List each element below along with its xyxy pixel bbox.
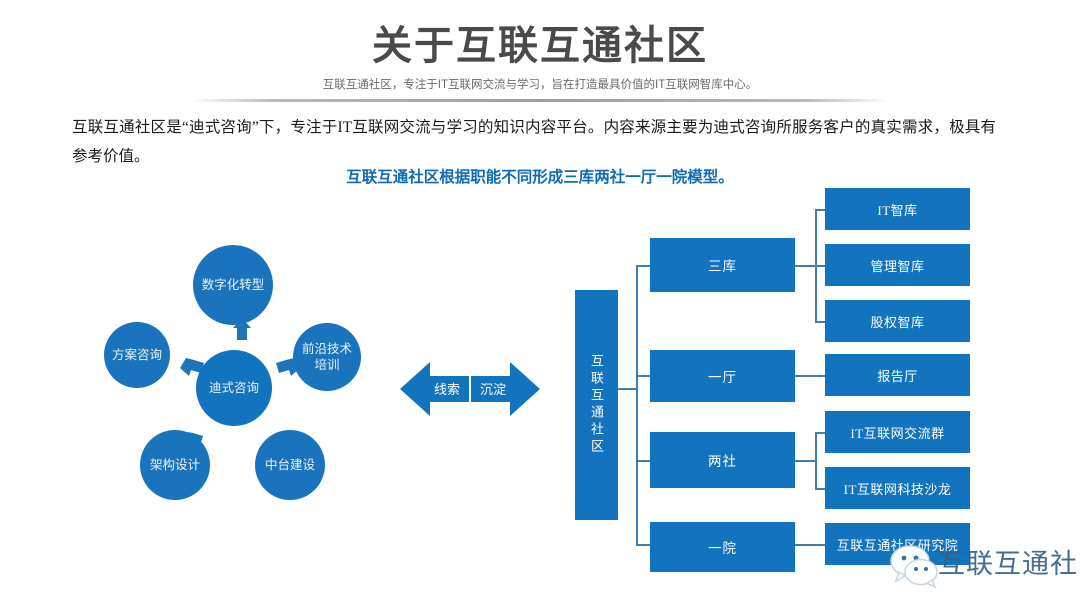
tree-connector [795,544,827,546]
radial-node-label: 中台建设 [261,457,319,473]
tree-branch-liangshe[interactable]: 两社 [650,432,795,488]
bridge-label-right: 沉淀 [480,379,506,398]
tree-root-node[interactable]: 互联互通社区 [575,290,618,520]
tree-leaf-it-think-tank[interactable]: IT智库 [825,188,970,230]
radial-node-digital-transformation[interactable]: 数字化转型 [193,245,273,325]
tree-connector [618,388,636,390]
tree-branch-yiting[interactable]: 一厅 [650,350,795,402]
radial-node-midplatform[interactable]: 中台建设 [255,430,325,500]
tree-connector [815,433,817,489]
radial-node-label: 方案咨询 [108,347,166,363]
tree-leaf-it-chat-group[interactable]: IT互联网交流群 [825,411,970,453]
tree-leaf-management-think-tank[interactable]: 管理智库 [825,244,970,286]
tree-branch-sanku[interactable]: 三库 [650,238,795,292]
tree-connector [795,265,815,267]
page-subtitle: 互联互通社区，专注于IT互联网交流与学习，旨在打造最具价值的IT互联网智库中心。 [0,76,1080,92]
wechat-icon [888,544,940,590]
radial-center-label: 迪式咨询 [205,380,263,396]
tree-connector [795,375,827,377]
header-divider [190,99,890,102]
radial-node-solution-consulting[interactable]: 方案咨询 [104,322,170,388]
page-title: 关于互联互通社区 [0,22,1080,70]
radial-node-label: 数字化转型 [198,277,269,293]
bridge-label-left: 线索 [434,379,460,398]
radial-node-architecture-design[interactable]: 架构设计 [140,430,210,500]
slide-canvas: 关于互联互通社区 互联互通社区，专注于IT互联网交流与学习，旨在打造最具价值的I… [0,0,1080,608]
bidirectional-arrow: 线索 沉淀 [400,358,540,420]
tree-connector [636,266,638,546]
radial-node-label: 架构设计 [146,457,204,473]
tree-leaf-it-tech-salon[interactable]: IT互联网科技沙龙 [825,467,970,509]
tree-branch-yiyuan[interactable]: 一院 [650,522,795,572]
double-arrow-icon [400,358,540,420]
watermark-text: 互联互通社区 [938,542,1080,581]
radial-diagram: 数字化转型 前沿技术培训 中台建设 架构设计 方案咨询 迪式咨询 [90,230,390,520]
watermark: 互联互通社区 [888,536,1080,588]
radial-center-node[interactable]: 迪式咨询 [196,350,272,426]
radial-node-label: 前沿技术培训 [293,341,361,373]
slide-header: 关于互联互通社区 互联互通社区，专注于IT互联网交流与学习，旨在打造最具价值的I… [0,0,1080,104]
intro-paragraph: 互联互通社区是“迪式咨询”下，专注于IT互联网交流与学习的知识内容平台。内容来源… [72,113,996,171]
radial-node-tech-training[interactable]: 前沿技术培训 [293,323,361,391]
org-tree-diagram: 互联互通社区 三库 一厅 两社 一院 IT智库 管理智库 股权智库 报告厅 IT… [560,180,1080,580]
tree-connector [795,460,815,462]
tree-leaf-report-hall[interactable]: 报告厅 [825,354,970,396]
tree-leaf-equity-think-tank[interactable]: 股权智库 [825,300,970,342]
